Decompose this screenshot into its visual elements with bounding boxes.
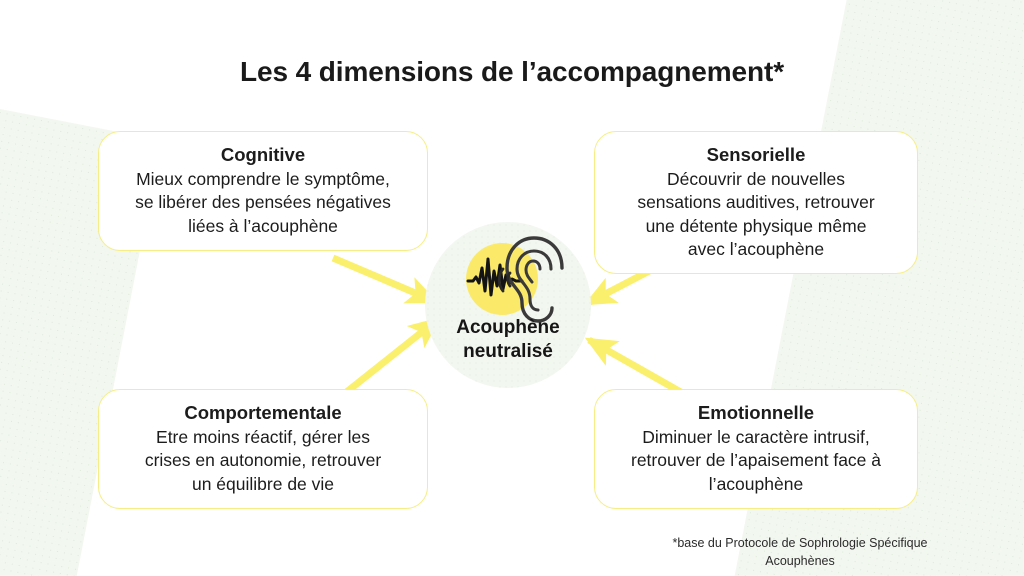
card-sensorielle-title: Sensorielle [609,143,903,168]
arrow-cognitive-to-center [333,258,434,301]
card-emotionnelle-title: Emotionnelle [609,401,903,426]
arrow-emotionnelle-to-center [589,340,686,395]
card-comportementale[interactable]: Comportementale Etre moins réactif, gére… [98,389,428,509]
card-sensorielle-body: Découvrir de nouvelles sensations auditi… [609,168,903,261]
card-cognitive-title: Cognitive [113,143,413,168]
card-comportementale-title: Comportementale [113,401,413,426]
center-label: Acouphène neutralisé [425,316,591,364]
arrow-comportementale-to-center [344,320,437,394]
card-cognitive[interactable]: Cognitive Mieux comprendre le symptôme, … [98,131,428,251]
card-cognitive-body: Mieux comprendre le symptôme, se libérer… [113,168,413,238]
footnote: *base du Protocole de Sophrologie Spécif… [600,534,1000,570]
ear-soundwave-icon [466,235,576,325]
card-sensorielle[interactable]: Sensorielle Découvrir de nouvelles sensa… [594,131,918,274]
slide-canvas: Les 4 dimensions de l’accompagnement* Ac… [0,0,1024,576]
card-emotionnelle[interactable]: Emotionnelle Diminuer le caractère intru… [594,389,918,509]
card-emotionnelle-body: Diminuer le caractère intrusif, retrouve… [609,426,903,496]
card-comportementale-body: Etre moins réactif, gérer les crises en … [113,426,413,496]
